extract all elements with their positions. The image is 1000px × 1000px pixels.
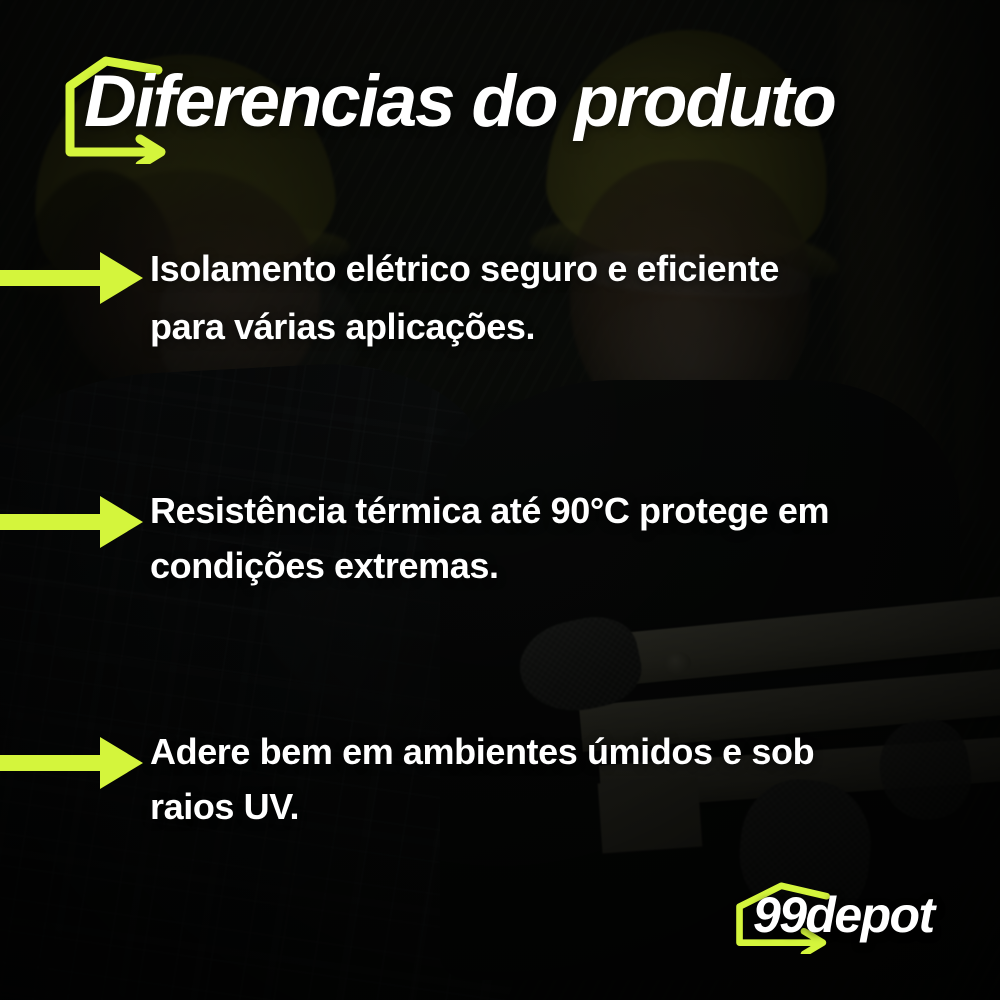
brand-logo[interactable]: 99depot — [729, 880, 944, 958]
arrow-right-icon — [0, 248, 150, 308]
brand-logo-text: 99depot — [753, 886, 934, 944]
arrow-container — [0, 492, 150, 552]
feature-text: Isolamento elétrico seguro e eficiente p… — [150, 240, 850, 357]
arrow-right-icon — [0, 492, 150, 552]
feature-row: Isolamento elétrico seguro e eficiente p… — [0, 248, 1000, 357]
arrow-container — [0, 248, 150, 308]
feature-text: Resistência térmica até 90°C protege em … — [150, 484, 850, 593]
feature-row: Resistência térmica até 90°C protege em … — [0, 492, 1000, 593]
title-block: Diferencias do produto — [0, 0, 1000, 190]
arrow-right-icon — [0, 733, 150, 793]
poster-canvas: Diferencias do produto Isolamento elétri… — [0, 0, 1000, 1000]
feature-text: Adere bem em ambientes úmidos e sob raio… — [150, 725, 850, 834]
poster-content: Diferencias do produto Isolamento elétri… — [0, 0, 1000, 1000]
feature-row: Adere bem em ambientes úmidos e sob raio… — [0, 733, 1000, 834]
arrow-container — [0, 733, 150, 793]
page-title: Diferencias do produto — [84, 64, 835, 141]
